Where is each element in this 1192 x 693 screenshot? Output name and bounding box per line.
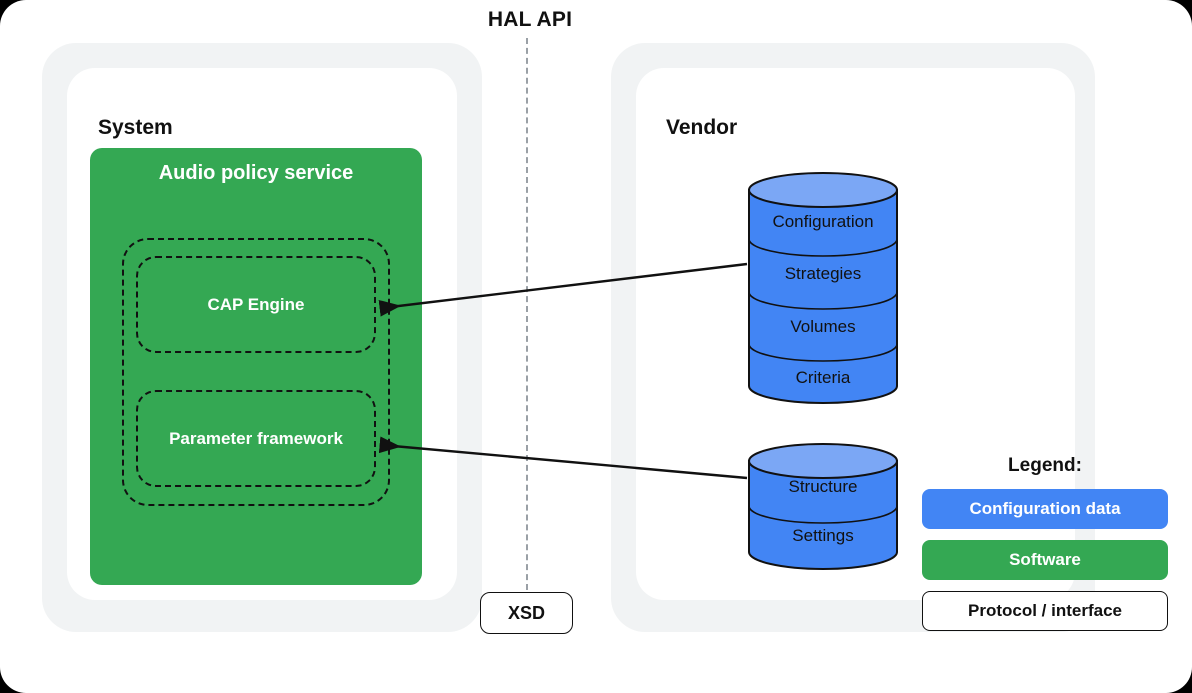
cylinder-section-label: Strategies [748,264,898,284]
cylinder-section-label: Volumes [748,317,898,337]
cap-engine-label: CAP Engine [208,295,305,315]
legend-item-software: Software [922,540,1168,580]
audio-policy-service-block: Audio policy service CAP Engine Paramete… [90,148,422,585]
page-title: HAL API [0,8,1060,32]
legend: Legend: Configuration data Software Prot… [922,455,1168,642]
hal-api-divider-line [526,38,528,590]
cap-engine-box: CAP Engine [136,256,376,353]
cylinder-section-label: Structure [748,477,898,497]
diagram-canvas: HAL API System Vendor Audio policy servi… [0,0,1192,693]
legend-item-protocol-interface: Protocol / interface [922,591,1168,631]
cylinder-section-label: Configuration [748,212,898,232]
xsd-interface-box: XSD [480,592,573,634]
audio-policy-service-title: Audio policy service [90,162,422,185]
legend-title: Legend: [922,455,1168,477]
system-zone-label: System [98,116,173,140]
vendor-zone-label: Vendor [666,116,737,140]
parameter-framework-box: Parameter framework [136,390,376,487]
cylinder-section-label: Settings [748,526,898,546]
parameter-data-cylinder: Structure Settings [748,443,898,570]
parameter-framework-label: Parameter framework [169,429,343,449]
cylinder-section-label: Criteria [748,368,898,388]
cylinder-shape-icon [748,443,898,570]
legend-item-configuration-data: Configuration data [922,489,1168,529]
configuration-data-cylinder: Configuration Strategies Volumes Criteri… [748,172,898,404]
